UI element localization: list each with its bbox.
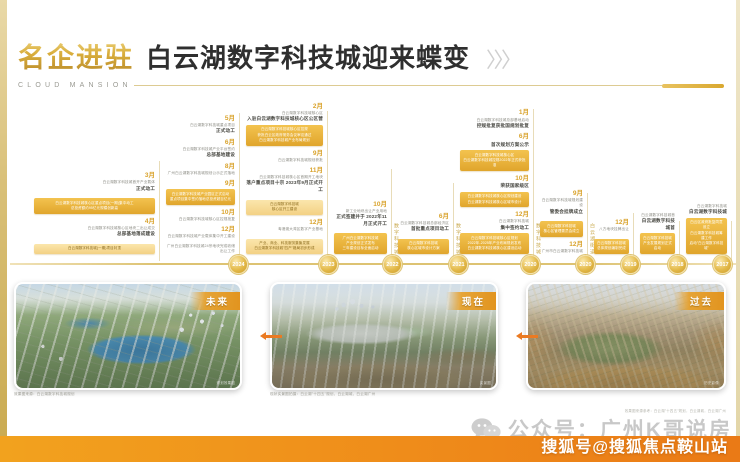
event-month-label: 12月 <box>460 211 529 218</box>
timeline-year-marker[interactable]: 2022 <box>383 255 402 274</box>
sohu-watermark-label: 搜狐号@搜狐焦点鞍山站 <box>541 433 728 457</box>
event-chip: 白云湖数字科技城(一期)项目封顶 <box>34 244 155 254</box>
event-chip: 广州白云湖数字科技城 产业规划正式发布 三年建设目标全面启动 <box>334 233 387 254</box>
event-chip: 白云湖数字科技城产业园区正式启动 重点项目集中签约落地总投资超百亿元 <box>166 189 235 205</box>
timeline-event: 白云湖数字科技城 核心区城市设计方案 <box>398 237 449 255</box>
event-chip: 白云湖数字科技城 核心区城市设计方案 <box>398 239 449 255</box>
timeline-year-marker[interactable]: 2021 <box>449 255 468 274</box>
panel-watermark: 规划效果图 <box>217 380 235 385</box>
subtitle-en: CLOUD MANSION <box>18 82 132 89</box>
event-headline: 白云湖数字科技城 <box>686 209 727 216</box>
timeline-year-marker[interactable]: 2023 <box>319 255 338 274</box>
timeline-event: 9月白云湖数字科技城规划建设管委会挂牌成立 <box>540 190 583 215</box>
timeline-event: 10月新工业地块出让产业用地正式签建并于 2022年11月正式开工 <box>334 201 387 228</box>
event-text: 八方地块挂牌出让 <box>594 227 629 232</box>
event-headline: 集中签约动工 <box>460 225 529 232</box>
event-chip: 白云湖数字科技城 总体规划编制完成 <box>594 239 629 255</box>
event-chip: 白云湖数字科技城核心区规划 2022年-2025年产业布局规划发布 白云湖数字科… <box>460 233 529 254</box>
event-month-label: 3月 <box>34 172 155 179</box>
timeline-year-marker[interactable]: 2019 <box>621 255 640 274</box>
timeline-event: 白云湖数字科技城核心区重点项目(一期)集中动工 总投资额约95亿元规模创新高 <box>34 196 155 214</box>
event-chip: 白云湖数字科技城核心区重点项目(一期)集中动工 总投资额约95亿元规模创新高 <box>34 198 155 214</box>
timeline-event: 11月白云湖数字科技城核心区首期开工地块落户重点项目十宗 2023年9月正式开工 <box>246 167 323 194</box>
event-headline: 正式动工 <box>34 186 155 193</box>
event-month-label: 12月 <box>594 219 629 226</box>
panel-watermark: 实景图 <box>480 380 491 385</box>
event-month-label: 10月 <box>460 175 529 182</box>
timeline-year-marker[interactable]: 2020 <box>521 255 540 274</box>
timeline-event: 8月广州白云湖数字科技城规划公示正式落地 <box>166 163 235 176</box>
event-headline: 总部基地建设 <box>166 152 235 159</box>
timeline-event: 10月白云湖数字科技城核心区控规批复 <box>166 209 235 222</box>
event-month-label: 6月 <box>460 133 529 140</box>
timeline-event: 2月白云湖数字科技城核心区入驻白云湖数字科技城核心区公区营白云湖数字科技城核心区… <box>246 103 323 146</box>
timeline-event: 3月白云湖数字科技城首开产业载体正式动工 <box>34 172 155 192</box>
timeline-column: 12月八方地块挂牌出让白云湖数字科技城 总体规划编制完成 <box>590 213 634 261</box>
timeline-event: 9月白云湖数字科技城产业园区正式启动 重点项目集中签约落地总投资超百亿元 <box>166 180 235 205</box>
photo-panel-past[interactable]: 过去历史影像 <box>526 282 726 390</box>
footer-note: 效果图来源参考：白云湖"十四五"规划，白云湖城，白云湖广州 <box>625 408 726 413</box>
panel-caption: 效果图来源：白云湖数字科技城规划 <box>14 392 242 397</box>
timeline-event: 12月八方地块挂牌出让 <box>594 219 629 232</box>
event-month-label: 9月 <box>246 150 323 157</box>
panel-tag-future: 未来 <box>190 292 240 310</box>
timeline-event: 白云湖数字科技城首白云湖数字科技城首白云湖数字科技城 产业发展规划正式启动 <box>640 213 675 254</box>
timeline-event: 白云湖数字科技城白云湖数字科技城白云区政府批复同意设立 白云湖数字科技城筹建工作… <box>686 204 727 254</box>
timeline-event: 6月白云湖数字科技城产业平台签约总部基地建设 <box>166 139 235 159</box>
panel-watermark: 历史影像 <box>704 380 719 385</box>
right-gold-edge <box>736 0 740 462</box>
header: 名企进驻 白云湖数字科技城迎来蝶变 〉〉〉 CLOUD MANSION <box>18 36 724 98</box>
timeline-event: 6月白云湖数字科技城总部经济区首批重点项目动工 <box>398 213 449 233</box>
timeline-column: 5月白云湖数字科技城重点项目正式动工6月白云湖数字科技城产业平台签约总部基地建设… <box>162 113 240 261</box>
event-chip: 白云湖数字科技城核心区 白云湖数字科技城控规2022年正式获批准 <box>460 150 529 171</box>
event-month-label: 12月 <box>166 226 235 233</box>
event-headline: 白云湖数字科技城首 <box>640 218 675 231</box>
title-gold: 名企进驻 <box>18 36 134 75</box>
photo-panel-future[interactable]: 未来规划效果图 <box>14 282 242 390</box>
event-headline: 控规批复获批国规划批复 <box>460 123 529 130</box>
event-text: 广州白云湖数字科技城24宗地块完成收储出让工作 <box>166 244 235 254</box>
left-gold-edge <box>0 0 7 462</box>
event-chip: 白云区政府批复同意设立 白云湖数字科技城筹建工作 启动"白云湖数字科技城" <box>686 218 727 255</box>
event-month-label: 6月 <box>398 213 449 220</box>
event-month-label: 5月 <box>166 115 235 122</box>
timeline-year-marker[interactable]: 2018 <box>668 255 687 274</box>
event-headline: 荣获国家级区 <box>460 183 529 190</box>
timeline-event: 12月白云湖数字科技城产业载体集中开工建设 <box>166 226 235 239</box>
timeline-event: 4月白云湖数字科技城核心区地块二出让成交总部基地落成建设 <box>34 218 155 238</box>
event-month-label: 6月 <box>166 139 235 146</box>
title-row: 名企进驻 白云湖数字科技城迎来蝶变 〉〉〉 <box>18 36 724 76</box>
event-text: 广州白云湖数字科技城规划公示正式落地 <box>166 171 235 176</box>
event-headline: 正式动工 <box>166 128 235 135</box>
timeline-column: 9月白云湖数字科技城规划建设管委会挂牌成立白云湖数字科技城 核心区管理委员会成立… <box>536 193 588 261</box>
timeline-event: 1月白云湖数字科技城总部基地启动控规批复获批国规划批复 <box>460 109 529 129</box>
timeline-year-marker[interactable]: 2024 <box>229 255 248 274</box>
timeline-event: 白云湖数字科技城 核心区开工建设 <box>246 198 323 216</box>
timeline-column: 3月白云湖数字科技城首开产业载体正式动工白云湖数字科技城核心区重点项目(一期)集… <box>30 161 160 261</box>
timeline-event: 12月广州市白云湖数字科技城 <box>540 241 583 254</box>
event-month-label: 12月 <box>246 219 323 226</box>
timeline-event: 12月白云湖数字科技城集中签约动工白云湖数字科技城核心区规划 2022年-202… <box>460 211 529 254</box>
photo-panel-present[interactable]: 现在实景图 <box>270 282 498 390</box>
timeline-event: 10月荣获国家级区白云湖数字科技城核心区规划建设 白云湖数字科技城核心区城市设计 <box>460 175 529 207</box>
arrow-left-icon-1 <box>260 332 282 341</box>
timeline-column: 10月新工业地块出让产业用地正式签建并于 2022年11月正式开工广州白云湖数字… <box>330 169 392 261</box>
event-month-label: 9月 <box>540 190 583 197</box>
timeline-event: 6月首次规划方案公示白云湖数字科技城核心区 白云湖数字科技城控规2022年正式获… <box>460 133 529 171</box>
event-chip: 白云湖数字科技城核心区规划建设 白云湖数字科技城核心区城市设计 <box>460 192 529 208</box>
event-headline: 首次规划方案公示 <box>460 142 529 149</box>
timeline-column: 2月白云湖数字科技城核心区入驻白云湖数字科技城核心区公区营白云湖数字科技城核心区… <box>242 111 328 261</box>
timeline-event: 广州白云湖数字科技城24宗地块完成收储出让工作 <box>166 244 235 254</box>
event-month-label: 12月 <box>540 241 583 248</box>
timeline-event: 5月白云湖数字科技城重点项目正式动工 <box>166 115 235 135</box>
event-chip: 白云湖数字科技城 产业发展规划正式启动 <box>640 233 675 254</box>
event-headline: 入驻白云湖数字科技城核心区公区营 <box>246 116 323 123</box>
page-title: 白云湖数字科技城迎来蝶变 <box>146 38 470 75</box>
event-text: 白云湖数字科技城核心区控规批复 <box>166 217 235 222</box>
event-chip: 白云湖数字科技城 核心区管理委员会成立 <box>540 221 583 237</box>
event-headline: 正式签建并于 2022年11月正式开工 <box>334 214 387 227</box>
event-text: 粤港澳大湾区数字产业基地 <box>246 227 323 232</box>
event-chip: 产业、商业、科技服务集聚发展 白云湖数字科技城"四产"格局初步形成 <box>246 239 323 255</box>
panel-caption: 现状实景图拍摄：白云湖"十四五"规划，白云湖城，白云湖广州 <box>270 392 498 397</box>
header-divider-cap <box>662 84 724 88</box>
timeline-event: 白云湖数字科技城(一期)项目封顶 <box>34 242 155 254</box>
event-headline: 首批重点项目动工 <box>398 226 449 233</box>
subtitle-row: CLOUD MANSION <box>18 82 724 89</box>
header-divider <box>134 85 662 86</box>
timeline-column: 6月白云湖数字科技城总部经济区首批重点项目动工白云湖数字科技城 核心区城市设计方… <box>394 183 454 261</box>
timeline-event: 白云湖数字科技城 核心区管理委员会成立 <box>540 219 583 237</box>
event-month-label: 10月 <box>334 201 387 208</box>
event-month-label: 11月 <box>246 167 323 174</box>
event-month-label: 2月 <box>246 103 323 110</box>
event-headline: 总部基地落成建设 <box>34 231 155 238</box>
event-month-label: 9月 <box>166 180 235 187</box>
event-headline: 落户重点项目十宗 2023年9月正式开工 <box>246 180 323 193</box>
arrow-left-icon-2 <box>516 332 538 341</box>
timeline-event: 9月白云湖数字科技城规划获批 <box>246 150 323 163</box>
chevron-right-icon: 〉〉〉 <box>486 44 519 74</box>
event-text: 白云湖数字科技城规划建设 <box>540 198 583 208</box>
photo-panels: 未来规划效果图效果图来源：白云湖数字科技城规划 现在实景图现状实景图拍摄：白云湖… <box>14 282 726 404</box>
event-month-label: 1月 <box>460 109 529 116</box>
event-month-label: 8月 <box>166 163 235 170</box>
event-headline: 管委会挂牌成立 <box>540 209 583 216</box>
event-chip: 白云湖数字科技城 核心区开工建设 <box>246 200 323 216</box>
event-month-label: 4月 <box>34 218 155 225</box>
event-text: 白云湖数字科技城规划获批 <box>246 158 323 163</box>
timeline-year-marker[interactable]: 2017 <box>713 255 732 274</box>
timeline: 3月白云湖数字科技城首开产业载体正式动工白云湖数字科技城核心区重点项目(一期)集… <box>10 100 736 275</box>
timeline-event: 产业、商业、科技服务集聚发展 白云湖数字科技城"四产"格局初步形成 <box>246 237 323 255</box>
panel-tag-past: 过去 <box>674 292 724 310</box>
event-month-label: 10月 <box>166 209 235 216</box>
poster-page: 名企进驻 白云湖数字科技城迎来蝶变 〉〉〉 CLOUD MANSION 3月白云… <box>0 0 740 462</box>
event-text: 白云湖数字科技城产业载体集中开工建设 <box>166 234 235 239</box>
timeline-year-marker[interactable]: 2020 <box>576 255 595 274</box>
timeline-column: 1月白云湖数字科技城总部基地启动控规批复获批国规划批复6月首次规划方案公示白云湖… <box>456 109 534 261</box>
timeline-event: 广州白云湖数字科技城 产业规划正式发布 三年建设目标全面启动 <box>334 231 387 254</box>
event-text: 广州市白云湖数字科技城 <box>540 249 583 254</box>
timeline-event: 12月粤港澳大湾区数字产业基地 <box>246 219 323 232</box>
timeline-event: 白云湖数字科技城 总体规划编制完成 <box>594 237 629 255</box>
panel-tag-present: 现在 <box>446 292 496 310</box>
event-chip: 白云湖数字科技城核心区控规 获批白云区政府常务会议审议通过 白云湖数字科技城产业… <box>246 125 323 146</box>
